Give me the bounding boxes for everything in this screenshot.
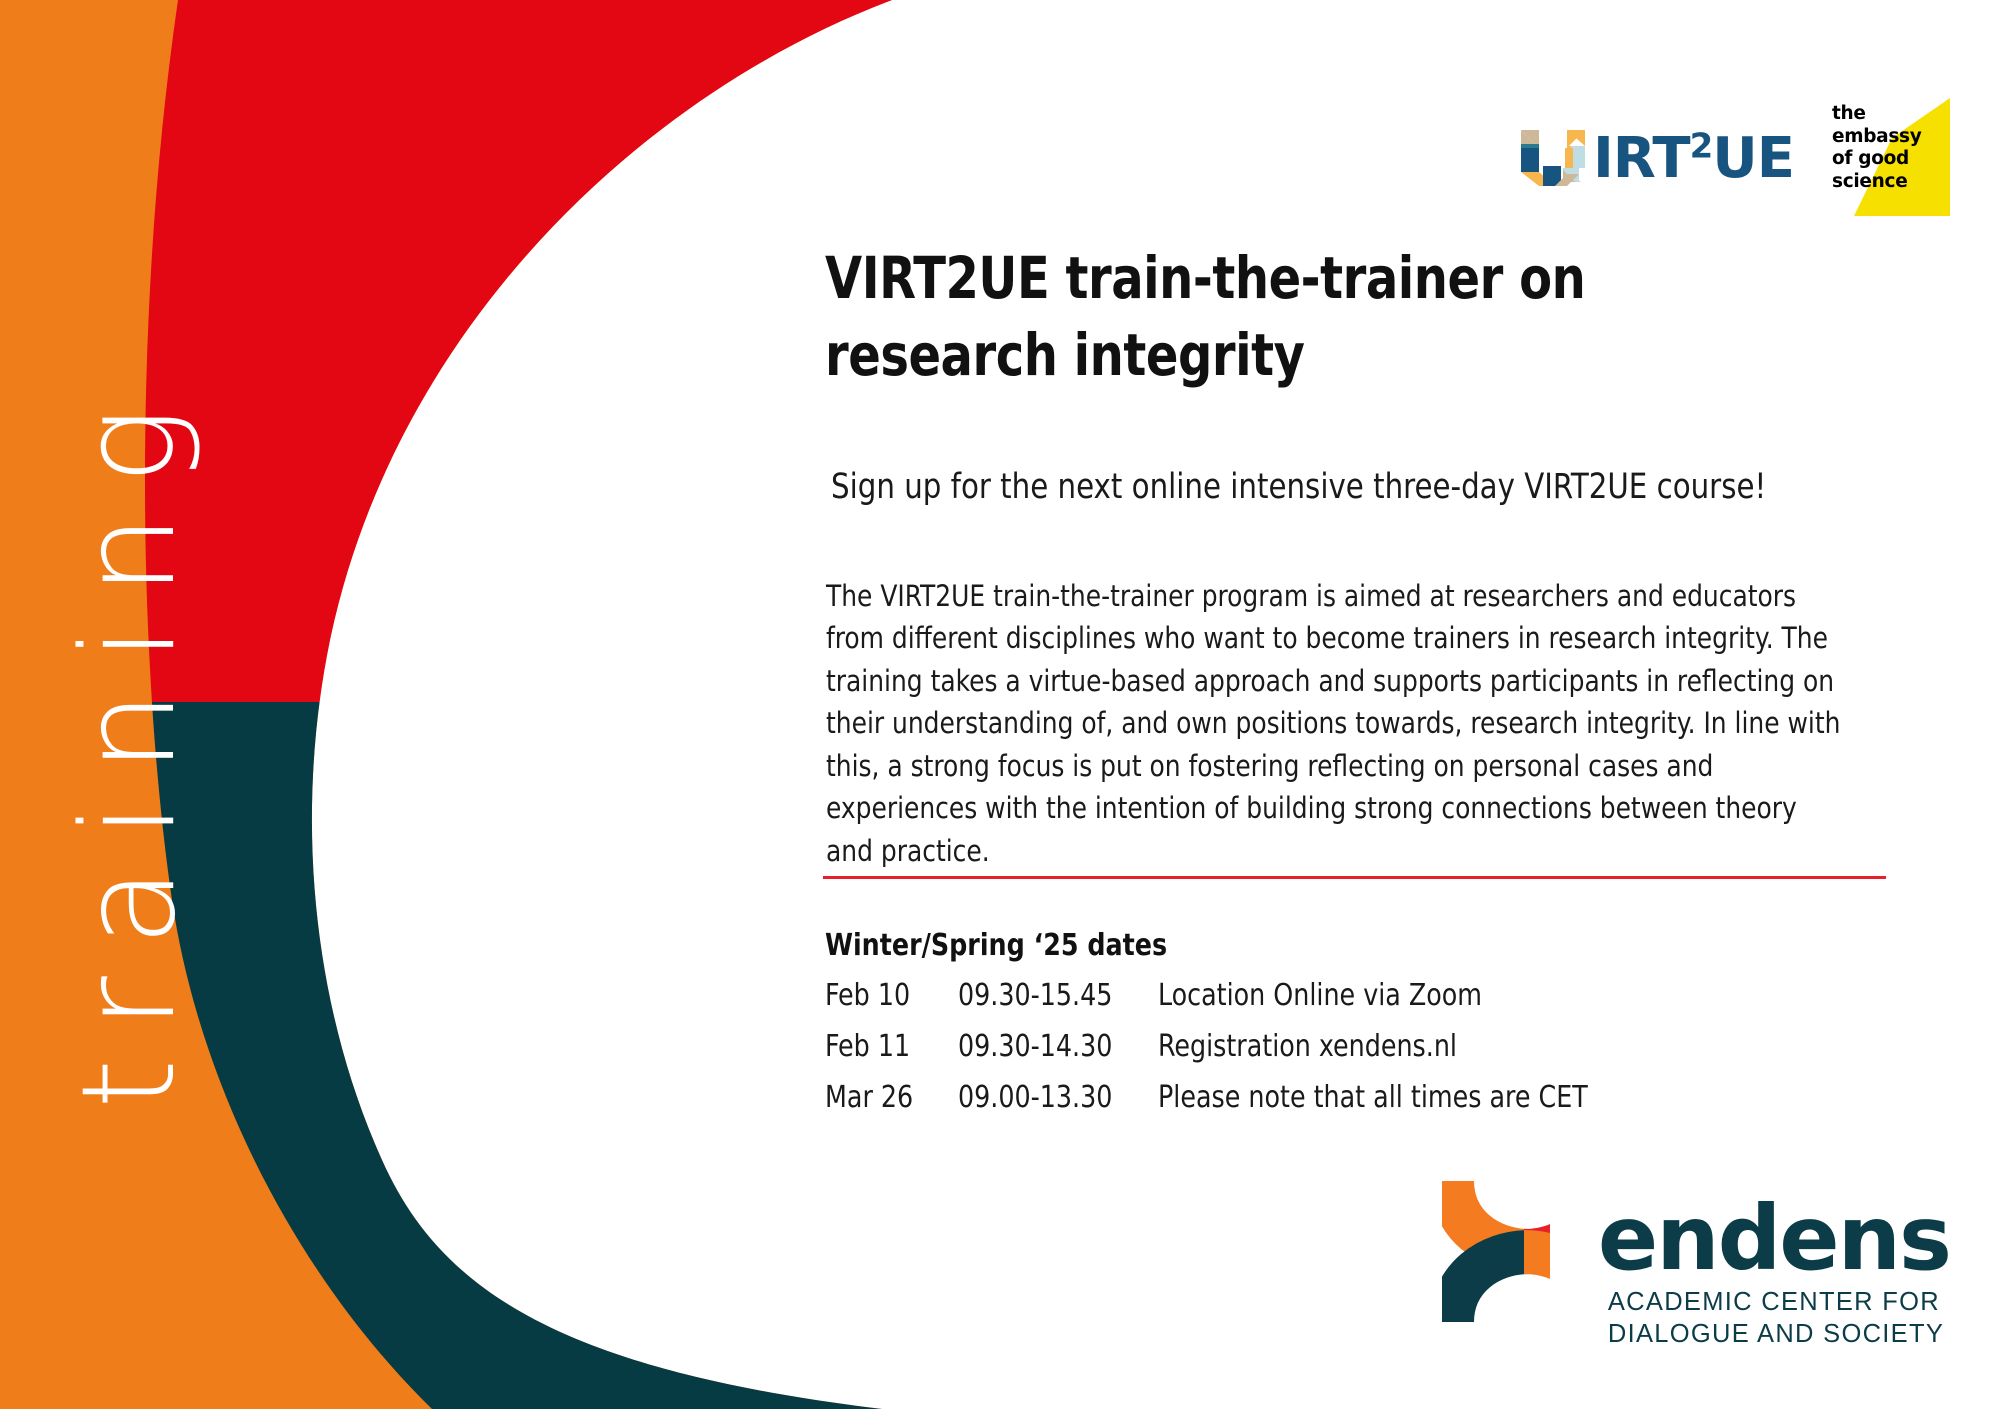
embassy-line-2: embassy (1832, 126, 1922, 149)
virt2ue-wordmark-sup: 2 (1690, 126, 1713, 166)
time-cell: 09.30-15.45 (958, 978, 1146, 1029)
logo-row: IRT2UE the embassy of good science (1519, 98, 1950, 216)
xendens-logo: endens ACADEMIC CENTER FOR DIALOGUE AND … (1442, 1169, 1950, 1351)
virt2ue-wordmark-before: IRT (1593, 126, 1690, 191)
embassy-line-4: science (1832, 171, 1922, 194)
table-row: Mar 26 09.00-13.30 Please note that all … (825, 1080, 1615, 1131)
date-cell: Feb 11 (825, 1029, 950, 1080)
virt2ue-wordmark: IRT2UE (1593, 131, 1794, 187)
xendens-wordmark-block: endens ACADEMIC CENTER FOR DIALOGUE AND … (1614, 1169, 1950, 1351)
page-subtitle: Sign up for the next online intensive th… (831, 465, 1766, 511)
xendens-tagline-line-2: DIALOGUE AND SOCIETY (1608, 1318, 1950, 1351)
note-cell: Location Online via Zoom (1158, 978, 1588, 1029)
embassy-line-1: the (1832, 103, 1922, 126)
dates-heading: Winter/Spring ‘25 dates (825, 928, 1167, 963)
dates-table: Feb 10 09.30-15.45 Location Online via Z… (825, 978, 1615, 1131)
table-row: Feb 10 09.30-15.45 Location Online via Z… (825, 978, 1615, 1029)
virt2ue-mark-icon (1519, 124, 1589, 190)
body-paragraph: The VIRT2UE train-the-trainer program is… (826, 575, 1851, 872)
xendens-tagline-line-1: ACADEMIC CENTER FOR (1608, 1286, 1950, 1319)
note-cell: Please note that all times are CET (1158, 1080, 1588, 1131)
virt2ue-wordmark-after: UE (1712, 126, 1794, 191)
note-cell: Registration xendens.nl (1158, 1029, 1588, 1080)
embassy-line-3: of good (1832, 148, 1922, 171)
time-cell: 09.00-13.30 (958, 1080, 1146, 1131)
dates-table-body: Feb 10 09.30-15.45 Location Online via Z… (825, 978, 1615, 1131)
xendens-tagline: ACADEMIC CENTER FOR DIALOGUE AND SOCIETY (1608, 1286, 1950, 1351)
xendens-wordmark: endens (1598, 1197, 1950, 1280)
virt2ue-logo: IRT2UE (1519, 124, 1794, 190)
divider-rule (823, 876, 1886, 879)
xendens-x-mark-icon (1442, 1169, 1612, 1334)
table-row: Feb 11 09.30-14.30 Registration xendens.… (825, 1029, 1615, 1080)
page-title: VIRT2UE train-the-trainer on research in… (825, 240, 1745, 393)
date-cell: Mar 26 (825, 1080, 950, 1131)
time-cell: 09.30-14.30 (958, 1029, 1146, 1080)
content-area: IRT2UE the embassy of good science VIRT2… (793, 0, 2000, 1409)
date-cell: Feb 10 (825, 978, 950, 1029)
embassy-wordmark: the embassy of good science (1832, 103, 1922, 193)
embassy-logo: the embassy of good science (1832, 98, 1950, 216)
